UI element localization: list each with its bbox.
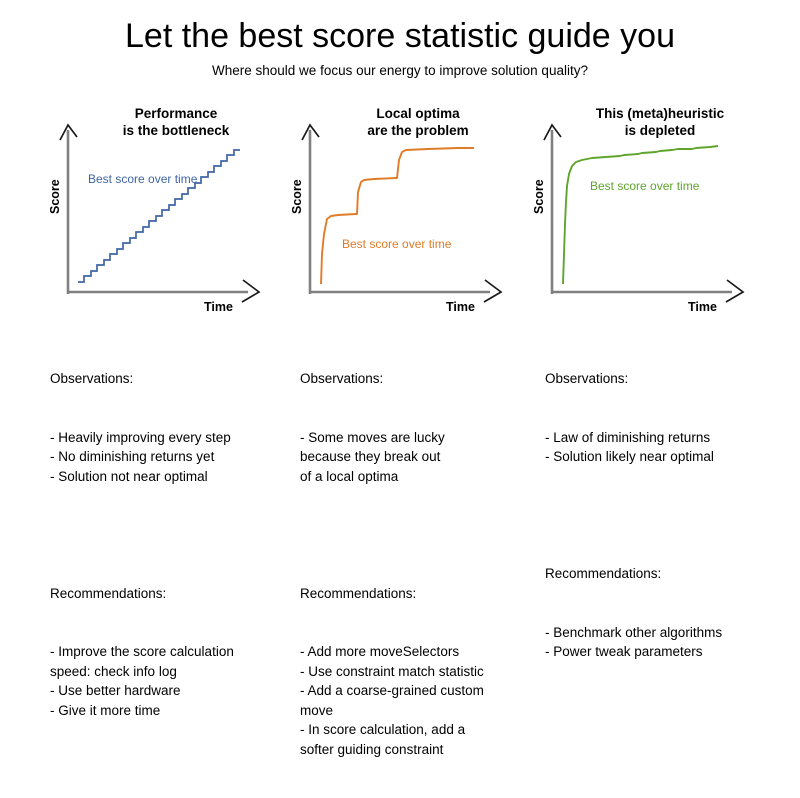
observations-list: - Law of diminishing returns - Solution …	[545, 428, 795, 467]
page-title: Let the best score statistic guide you	[0, 0, 800, 55]
recommendations-list: - Improve the score calculation speed: c…	[50, 642, 300, 720]
series-line-best-score	[78, 150, 240, 282]
chart-panel-local-optima: Local optima are the problem Score Time …	[278, 104, 528, 324]
chart-graphic-depleted	[520, 104, 770, 324]
text-column-depleted: Observations: - Law of diminishing retur…	[545, 330, 795, 701]
page-subtitle: Where should we focus our energy to impr…	[0, 55, 800, 78]
slide-header: Let the best score statistic guide you W…	[0, 0, 800, 78]
chart-graphic-performance	[36, 104, 286, 324]
recommendations-heading: Recommendations:	[50, 584, 300, 604]
text-column-local-optima: Observations: - Some moves are lucky bec…	[300, 330, 540, 798]
observations-heading: Observations:	[50, 369, 300, 389]
observations-list: - Heavily improving every step - No dimi…	[50, 428, 300, 487]
chart-panel-performance: Performance is the bottleneck Score Time…	[36, 104, 286, 324]
section-spacer	[300, 525, 540, 545]
observations-heading: Observations:	[545, 369, 795, 389]
recommendations-list: - Benchmark other algorithms - Power twe…	[545, 623, 795, 662]
chart-graphic-local-optima	[278, 104, 528, 324]
series-line-best-score	[321, 148, 474, 284]
series-line-best-score	[563, 146, 718, 284]
chart-panels: Performance is the bottleneck Score Time…	[0, 104, 800, 324]
recommendations-heading: Recommendations:	[300, 584, 540, 604]
text-column-performance: Observations: - Heavily improving every …	[50, 330, 300, 759]
recommendations-list: - Add more moveSelectors - Use constrain…	[300, 642, 540, 759]
section-spacer	[50, 525, 300, 545]
section-spacer	[545, 506, 795, 526]
recommendations-heading: Recommendations:	[545, 564, 795, 584]
observations-heading: Observations:	[300, 369, 540, 389]
observations-list: - Some moves are lucky because they brea…	[300, 428, 540, 487]
chart-panel-depleted: This (meta)heuristic is depleted Score T…	[520, 104, 770, 324]
